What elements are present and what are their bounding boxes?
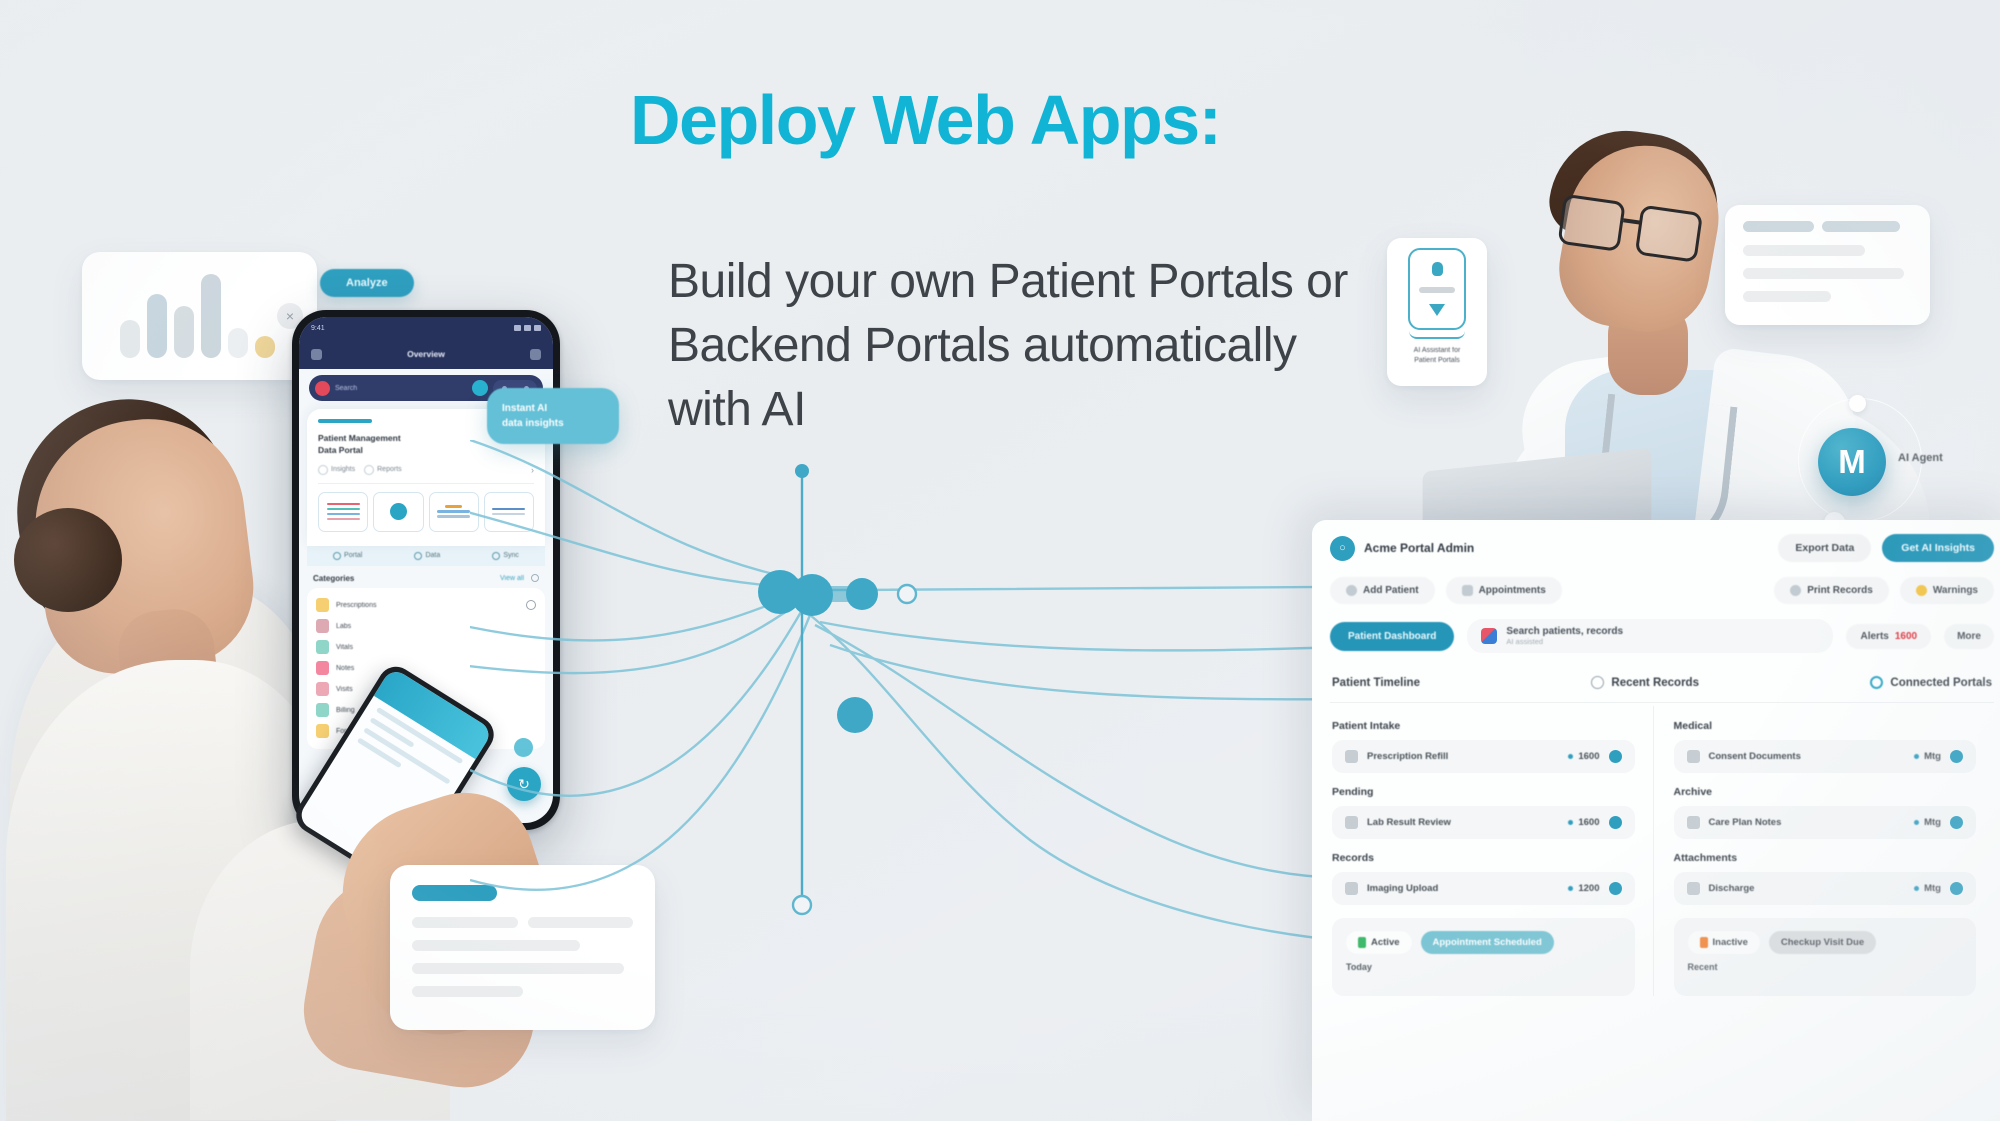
tag-row: Inactive Checkup Visit Due bbox=[1688, 931, 1963, 954]
record-icon bbox=[1687, 816, 1700, 829]
table-row[interactable]: Consent Documents Mtg bbox=[1674, 740, 1977, 773]
subnav-patient-timeline[interactable]: Patient Timeline bbox=[1332, 677, 1420, 689]
table-row[interactable]: Imaging Upload 1200 bbox=[1332, 872, 1635, 905]
row-value-text: 1600 bbox=[1578, 817, 1599, 828]
row-value: Mtg bbox=[1914, 751, 1941, 762]
analyze-pill-button[interactable]: Analyze bbox=[320, 269, 414, 297]
dashboard-column-right: Medical Consent Documents Mtg Archive Ca… bbox=[1653, 706, 1995, 996]
skeleton-accent-pill bbox=[412, 885, 497, 901]
calendar-icon bbox=[1462, 585, 1473, 596]
ring-icon bbox=[1870, 676, 1883, 689]
group-label: Archive bbox=[1674, 786, 1977, 798]
tag-subtext: Recent bbox=[1688, 962, 1963, 972]
color-swatch bbox=[316, 724, 329, 738]
status-dot-icon bbox=[1568, 886, 1573, 891]
wifi-icon bbox=[524, 325, 531, 331]
accent-bar bbox=[318, 419, 372, 423]
ai-insight-bubble: Instant AI data insights bbox=[487, 388, 619, 444]
card-title-line2: Data Portal bbox=[318, 444, 534, 456]
list-item[interactable]: Notes bbox=[316, 658, 536, 679]
tag-label: Active bbox=[1371, 937, 1400, 948]
lens-left bbox=[1557, 194, 1625, 252]
row-name: Imaging Upload bbox=[1367, 883, 1438, 894]
subnav-connected-portals[interactable]: Connected Portals bbox=[1870, 676, 1992, 689]
group-label: Attachments bbox=[1674, 852, 1977, 864]
tile-lines[interactable] bbox=[429, 492, 479, 532]
dashboard-subnav: Patient Timeline Recent Records Connecte… bbox=[1330, 665, 1994, 703]
list-item-label: Billing bbox=[336, 707, 355, 714]
subnav-label: Recent Records bbox=[1611, 677, 1699, 689]
menu-icon[interactable] bbox=[311, 349, 322, 360]
phone-category-list: Prescriptions Labs Vitals Notes V bbox=[307, 588, 545, 749]
skeleton-card-top-right bbox=[1725, 205, 1930, 325]
group-label: Pending bbox=[1332, 786, 1635, 798]
clock-icon bbox=[1591, 676, 1604, 689]
list-item[interactable]: Forms bbox=[316, 721, 536, 742]
record-icon bbox=[1687, 882, 1700, 895]
row-name: Lab Result Review bbox=[1367, 817, 1451, 828]
chip-label: Appointments bbox=[1479, 585, 1546, 596]
dashboard-brand: ○ Acme Portal Admin bbox=[1330, 536, 1474, 561]
status-dot-icon bbox=[1568, 820, 1573, 825]
chart-bar bbox=[147, 294, 167, 358]
settings-icon[interactable] bbox=[531, 574, 539, 582]
row-action-icon[interactable] bbox=[1950, 750, 1963, 763]
list-item[interactable]: Vitals bbox=[316, 637, 536, 658]
device-card-caption: AI Assistant for Patient Portals bbox=[1414, 346, 1461, 366]
toggle-switch[interactable] bbox=[472, 380, 488, 396]
skeleton-row bbox=[1743, 291, 1831, 302]
hero-graphic: × Analyze 9:41 Overview Search bbox=[0, 0, 2000, 1121]
dashboard-mockup: ○ Acme Portal Admin Export Data Get AI I… bbox=[1312, 520, 2000, 1121]
row-name: Care Plan Notes bbox=[1709, 817, 1782, 828]
skeleton-row bbox=[412, 917, 518, 928]
color-swatch bbox=[316, 619, 329, 633]
home-indicator bbox=[384, 814, 468, 818]
avatar bbox=[315, 381, 330, 396]
search-icon bbox=[1481, 628, 1497, 644]
search-input[interactable]: Search bbox=[335, 385, 467, 392]
add-patient-button[interactable]: Add Patient bbox=[1330, 577, 1435, 604]
row-value-text: Mtg bbox=[1924, 883, 1941, 894]
skeleton-row-pair bbox=[412, 917, 633, 928]
mini-bar-chart bbox=[98, 266, 301, 358]
list-item-label: Visits bbox=[336, 686, 353, 693]
gear-icon[interactable] bbox=[526, 600, 536, 610]
secondary-fab-button[interactable] bbox=[514, 738, 533, 757]
caption-line1: AI Assistant for bbox=[1414, 346, 1461, 356]
woman-hair-bun bbox=[14, 508, 122, 612]
data-icon bbox=[414, 552, 422, 560]
table-row[interactable]: Care Plan Notes Mtg bbox=[1674, 806, 1977, 839]
record-icon bbox=[1687, 750, 1700, 763]
grid-icon[interactable] bbox=[530, 349, 541, 360]
subnav-recent-records[interactable]: Recent Records bbox=[1591, 676, 1699, 689]
row-value: Mtg bbox=[1914, 817, 1941, 828]
row-name: Discharge bbox=[1709, 883, 1755, 894]
tag-row: Active Appointment Scheduled bbox=[1346, 931, 1621, 954]
phone-section-header: Categories View all bbox=[299, 566, 553, 588]
phone-app-header: Overview bbox=[299, 339, 553, 369]
ai-agent-badge-label: AI Agent bbox=[1898, 452, 1943, 464]
status-icons bbox=[514, 325, 541, 331]
chart-bar bbox=[255, 336, 275, 358]
ai-agent-badge[interactable]: M bbox=[1818, 428, 1886, 496]
row-value-text: Mtg bbox=[1924, 817, 1941, 828]
chart-bar bbox=[120, 320, 140, 358]
record-icon bbox=[1345, 750, 1358, 763]
alerts-label: Alerts bbox=[1860, 631, 1888, 642]
phone-card-meta-row: Insights Reports › bbox=[318, 465, 534, 484]
chart-bar bbox=[228, 328, 248, 358]
table-row[interactable]: Lab Result Review 1600 bbox=[1332, 806, 1635, 839]
list-item[interactable]: Visits bbox=[316, 679, 536, 700]
search-subtext: AI assisted bbox=[1506, 637, 1623, 646]
search-input[interactable]: Search patients, records bbox=[1506, 626, 1623, 637]
woman-shirt bbox=[6, 660, 336, 1121]
tile-lines[interactable] bbox=[318, 492, 368, 532]
color-swatch bbox=[316, 661, 329, 675]
eyeglasses-icon bbox=[1557, 194, 1728, 268]
caption-line2: Patient Portals bbox=[1414, 356, 1461, 366]
dashboard-columns: Patient Intake Prescription Refill 1600 … bbox=[1330, 706, 1994, 996]
warning-icon bbox=[1916, 585, 1927, 596]
tile-progress[interactable] bbox=[373, 492, 423, 532]
printer-icon bbox=[1790, 585, 1801, 596]
list-item[interactable]: Billing bbox=[316, 700, 536, 721]
signal-icon bbox=[514, 325, 521, 331]
skeleton-row bbox=[412, 986, 523, 997]
woman-neck bbox=[115, 605, 222, 724]
bubble-line1: Instant AI bbox=[502, 401, 604, 416]
dashboard-topbar: ○ Acme Portal Admin Export Data Get AI I… bbox=[1330, 534, 1994, 562]
subnav-label: Patient Timeline bbox=[1332, 677, 1420, 689]
export-data-button[interactable]: Export Data bbox=[1778, 534, 1871, 562]
color-swatch bbox=[316, 703, 329, 717]
chart-bar bbox=[201, 274, 221, 358]
view-all-link[interactable]: View all bbox=[500, 575, 524, 582]
tab-label: Data bbox=[425, 552, 440, 559]
tag-card: Active Appointment Scheduled Today bbox=[1332, 918, 1635, 996]
doctor-head bbox=[1550, 133, 1730, 341]
record-icon bbox=[1345, 816, 1358, 829]
glasses-bridge bbox=[1623, 218, 1641, 224]
tile-lines[interactable] bbox=[484, 492, 534, 532]
device-illustration-card: AI Assistant for Patient Portals bbox=[1387, 238, 1487, 386]
dashboard-tabs-row: Patient Dashboard Search patients, recor… bbox=[1330, 619, 1994, 653]
status-dot-icon bbox=[1568, 754, 1573, 759]
table-row[interactable]: Prescription Refill 1600 bbox=[1332, 740, 1635, 773]
tab-sync[interactable]: Sync bbox=[492, 552, 519, 560]
row-value-text: Mtg bbox=[1924, 751, 1941, 762]
phone-tab-bar: Portal Data Sync bbox=[307, 546, 545, 566]
list-item-label: Labs bbox=[336, 623, 351, 630]
skeleton-chip-pair bbox=[1743, 221, 1912, 232]
table-row[interactable]: Discharge Mtg bbox=[1674, 872, 1977, 905]
page-subcopy: Build your own Patient Portals or Backen… bbox=[668, 250, 1348, 441]
reports-icon bbox=[364, 465, 374, 475]
toolbar-right-group: Print Records Warnings bbox=[1774, 577, 1994, 604]
status-dot-icon bbox=[1914, 820, 1919, 825]
chip-label: Warnings bbox=[1933, 585, 1978, 596]
skeleton-chip bbox=[1743, 221, 1814, 232]
color-swatch bbox=[316, 598, 329, 612]
dashboard-top-buttons: Export Data Get AI Insights bbox=[1778, 534, 1994, 562]
row-value-text: 1600 bbox=[1578, 751, 1599, 762]
device-legs bbox=[1409, 330, 1465, 339]
alerts-count-badge[interactable]: Alerts 1600 bbox=[1846, 624, 1931, 649]
chart-bar bbox=[174, 306, 194, 358]
status-tag-inactive[interactable]: Inactive bbox=[1688, 931, 1760, 954]
meta-reports[interactable]: Reports bbox=[364, 465, 402, 475]
record-icon bbox=[1345, 882, 1358, 895]
list-item[interactable]: Labs bbox=[316, 616, 536, 637]
status-dot-icon bbox=[1914, 886, 1919, 891]
skeleton-card-bottom-left bbox=[390, 865, 655, 1030]
brand-logo-icon: ○ bbox=[1330, 536, 1355, 561]
device-dot bbox=[1432, 262, 1443, 276]
group-label: Patient Intake bbox=[1332, 720, 1635, 732]
list-item-label: Vitals bbox=[336, 644, 353, 651]
row-value: 1600 bbox=[1568, 751, 1599, 762]
status-swatch-icon bbox=[1700, 937, 1708, 948]
row-action-icon[interactable] bbox=[1609, 750, 1622, 763]
woman-head bbox=[24, 408, 263, 682]
portal-icon bbox=[333, 552, 341, 560]
get-ai-insights-button[interactable]: Get AI Insights bbox=[1882, 534, 1994, 562]
skeleton-row bbox=[1743, 268, 1904, 279]
doctor-neck bbox=[1608, 300, 1688, 395]
brand-name: Acme Portal Admin bbox=[1364, 541, 1474, 555]
skeleton-row bbox=[528, 917, 634, 928]
battery-icon bbox=[534, 325, 541, 331]
progress-circle-icon bbox=[390, 503, 407, 520]
color-swatch bbox=[316, 640, 329, 654]
skeleton-row bbox=[412, 940, 580, 951]
tab-portal[interactable]: Portal bbox=[333, 552, 362, 560]
dashboard-toolbar: Add Patient Appointments Print Records W… bbox=[1330, 577, 1994, 604]
checkup-tag[interactable]: Checkup Visit Due bbox=[1769, 931, 1876, 954]
page-headline: Deploy Web Apps: bbox=[630, 80, 1220, 160]
list-item[interactable]: Prescriptions bbox=[316, 595, 536, 616]
chevron-right-icon[interactable]: › bbox=[531, 465, 534, 475]
bubble-line2: data insights bbox=[502, 416, 604, 431]
phone-header-title: Overview bbox=[407, 349, 445, 359]
list-item-label: Notes bbox=[336, 665, 354, 672]
row-name: Consent Documents bbox=[1709, 751, 1801, 762]
status-dot-icon bbox=[1914, 754, 1919, 759]
tag-card: Inactive Checkup Visit Due Recent bbox=[1674, 918, 1977, 996]
list-item-label: Forms bbox=[336, 728, 356, 735]
row-value-text: 1200 bbox=[1578, 883, 1599, 894]
appointments-button[interactable]: Appointments bbox=[1446, 577, 1562, 604]
list-item-label: Prescriptions bbox=[336, 602, 376, 609]
device-fan-shape bbox=[1429, 304, 1445, 316]
row-value: Mtg bbox=[1914, 883, 1941, 894]
insights-icon bbox=[318, 465, 328, 475]
skeleton-row bbox=[412, 963, 624, 974]
warnings-button[interactable]: Warnings bbox=[1900, 577, 1994, 604]
floating-chart-card: × bbox=[82, 252, 317, 380]
sync-icon bbox=[492, 552, 500, 560]
device-bar bbox=[1419, 287, 1455, 293]
doctor-hair bbox=[1545, 121, 1727, 253]
skeleton-chip bbox=[1822, 221, 1900, 232]
device-outline-icon bbox=[1408, 248, 1466, 330]
group-label: Records bbox=[1332, 852, 1635, 864]
row-action-icon[interactable] bbox=[1609, 816, 1622, 829]
lens-right bbox=[1635, 205, 1703, 263]
meta-left-label: Insights bbox=[331, 466, 355, 473]
status-time: 9:41 bbox=[311, 325, 325, 332]
meta-right-label: Reports bbox=[377, 466, 402, 473]
phone-tile-grid bbox=[318, 484, 534, 538]
refresh-fab-button[interactable]: ↻ bbox=[507, 767, 541, 801]
row-value: 1600 bbox=[1568, 817, 1599, 828]
chip-label: Add Patient bbox=[1363, 585, 1419, 596]
phone-status-bar: 9:41 bbox=[299, 317, 553, 339]
tab-label: Sync bbox=[503, 552, 519, 559]
tag-label: Inactive bbox=[1713, 937, 1748, 948]
dashboard-column-left: Patient Intake Prescription Refill 1600 … bbox=[1330, 706, 1653, 996]
tab-label: Portal bbox=[344, 552, 362, 559]
tag-subtext: Today bbox=[1346, 962, 1621, 972]
search-text-group: Search patients, records AI assisted bbox=[1506, 626, 1623, 646]
print-records-button[interactable]: Print Records bbox=[1774, 577, 1889, 604]
row-name: Prescription Refill bbox=[1367, 751, 1448, 762]
row-action-icon[interactable] bbox=[1609, 882, 1622, 895]
subnav-label: Connected Portals bbox=[1890, 677, 1992, 689]
row-action-icon[interactable] bbox=[1950, 882, 1963, 895]
user-icon bbox=[1346, 585, 1357, 596]
woman-hair bbox=[1, 385, 250, 651]
tab-data[interactable]: Data bbox=[414, 552, 440, 560]
status-tag-active[interactable]: Active bbox=[1346, 931, 1412, 954]
row-value: 1200 bbox=[1568, 883, 1599, 894]
meta-insights[interactable]: Insights bbox=[318, 465, 355, 475]
appointment-tag[interactable]: Appointment Scheduled bbox=[1421, 931, 1554, 954]
group-label: Medical bbox=[1674, 720, 1977, 732]
status-swatch-icon bbox=[1358, 937, 1366, 948]
tab-patient-dashboard[interactable]: Patient Dashboard bbox=[1330, 622, 1454, 651]
row-action-icon[interactable] bbox=[1950, 816, 1963, 829]
orbit-dot-icon bbox=[1849, 395, 1866, 412]
chip-label: Print Records bbox=[1807, 585, 1873, 596]
alerts-value: 1600 bbox=[1895, 631, 1917, 642]
skeleton-row bbox=[1743, 245, 1865, 256]
dashboard-search-box[interactable]: Search patients, records AI assisted bbox=[1467, 619, 1833, 653]
woman-body-silhouette bbox=[10, 585, 330, 1121]
toolbar-left-group: Add Patient Appointments bbox=[1330, 577, 1562, 604]
more-button[interactable]: More bbox=[1944, 624, 1994, 649]
section-title: Categories bbox=[313, 574, 354, 583]
color-swatch bbox=[316, 682, 329, 696]
